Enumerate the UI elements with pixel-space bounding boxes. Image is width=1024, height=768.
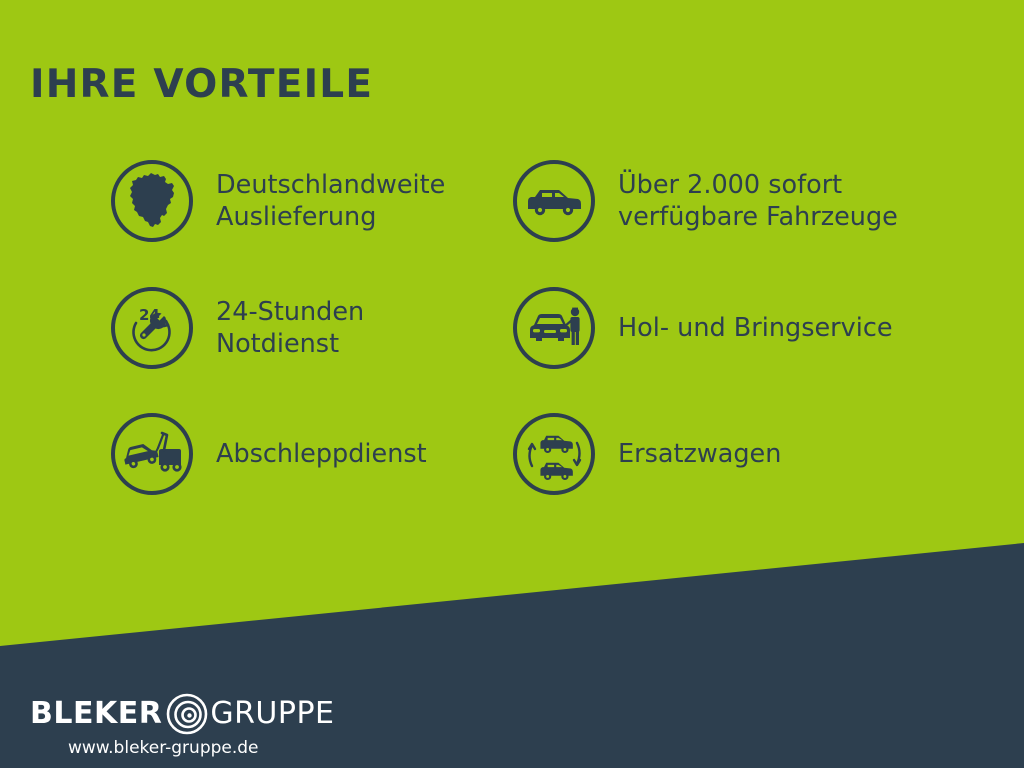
benefit-item-hol-und-bringservice: Hol- und Bringservice <box>513 287 893 369</box>
benefit-item-verfuegbare-fahrzeuge: Über 2.000 sofort verfügbare Fahrzeuge <box>513 160 898 242</box>
benefit-label: 24-Stunden Notdienst <box>216 296 364 360</box>
car-with-person-icon <box>513 287 595 369</box>
logo-name-light: GRUPPE <box>210 699 334 729</box>
benefit-item-deutschlandweite-auslieferung: Deutschlandweite Auslieferung <box>111 160 445 242</box>
benefit-item-abschleppdienst: Abschleppdienst <box>111 413 427 495</box>
car-side-icon <box>513 160 595 242</box>
page-title: IHRE VORTEILE <box>30 62 373 107</box>
spiral-circle-logo-icon <box>165 692 209 736</box>
benefit-label: Hol- und Bringservice <box>618 312 893 344</box>
slide-canvas: IHRE VORTEILE Deutschlandweite Ausliefer… <box>0 0 1024 768</box>
benefit-label: Deutschlandweite Auslieferung <box>216 169 445 233</box>
footer-branding: BLEKER GRUPPE www.bleker-gruppe.de <box>30 694 335 758</box>
wrench-24-hours-icon: 24 <box>111 287 193 369</box>
benefit-label: Ersatzwagen <box>618 438 781 470</box>
benefit-label: Abschleppdienst <box>216 438 427 470</box>
two-cars-exchange-icon <box>513 413 595 495</box>
logo-name-bold: BLEKER <box>30 699 162 729</box>
benefit-label: Über 2.000 sofort verfügbare Fahrzeuge <box>618 169 898 233</box>
footer-website-url[interactable]: www.bleker-gruppe.de <box>68 738 335 758</box>
benefit-item-ersatzwagen: Ersatzwagen <box>513 413 781 495</box>
germany-map-icon <box>111 160 193 242</box>
company-logo: BLEKER GRUPPE <box>30 694 335 734</box>
tow-truck-icon <box>111 413 193 495</box>
benefit-item-24-stunden-notdienst: 24 24-Stunden Notdienst <box>111 287 364 369</box>
